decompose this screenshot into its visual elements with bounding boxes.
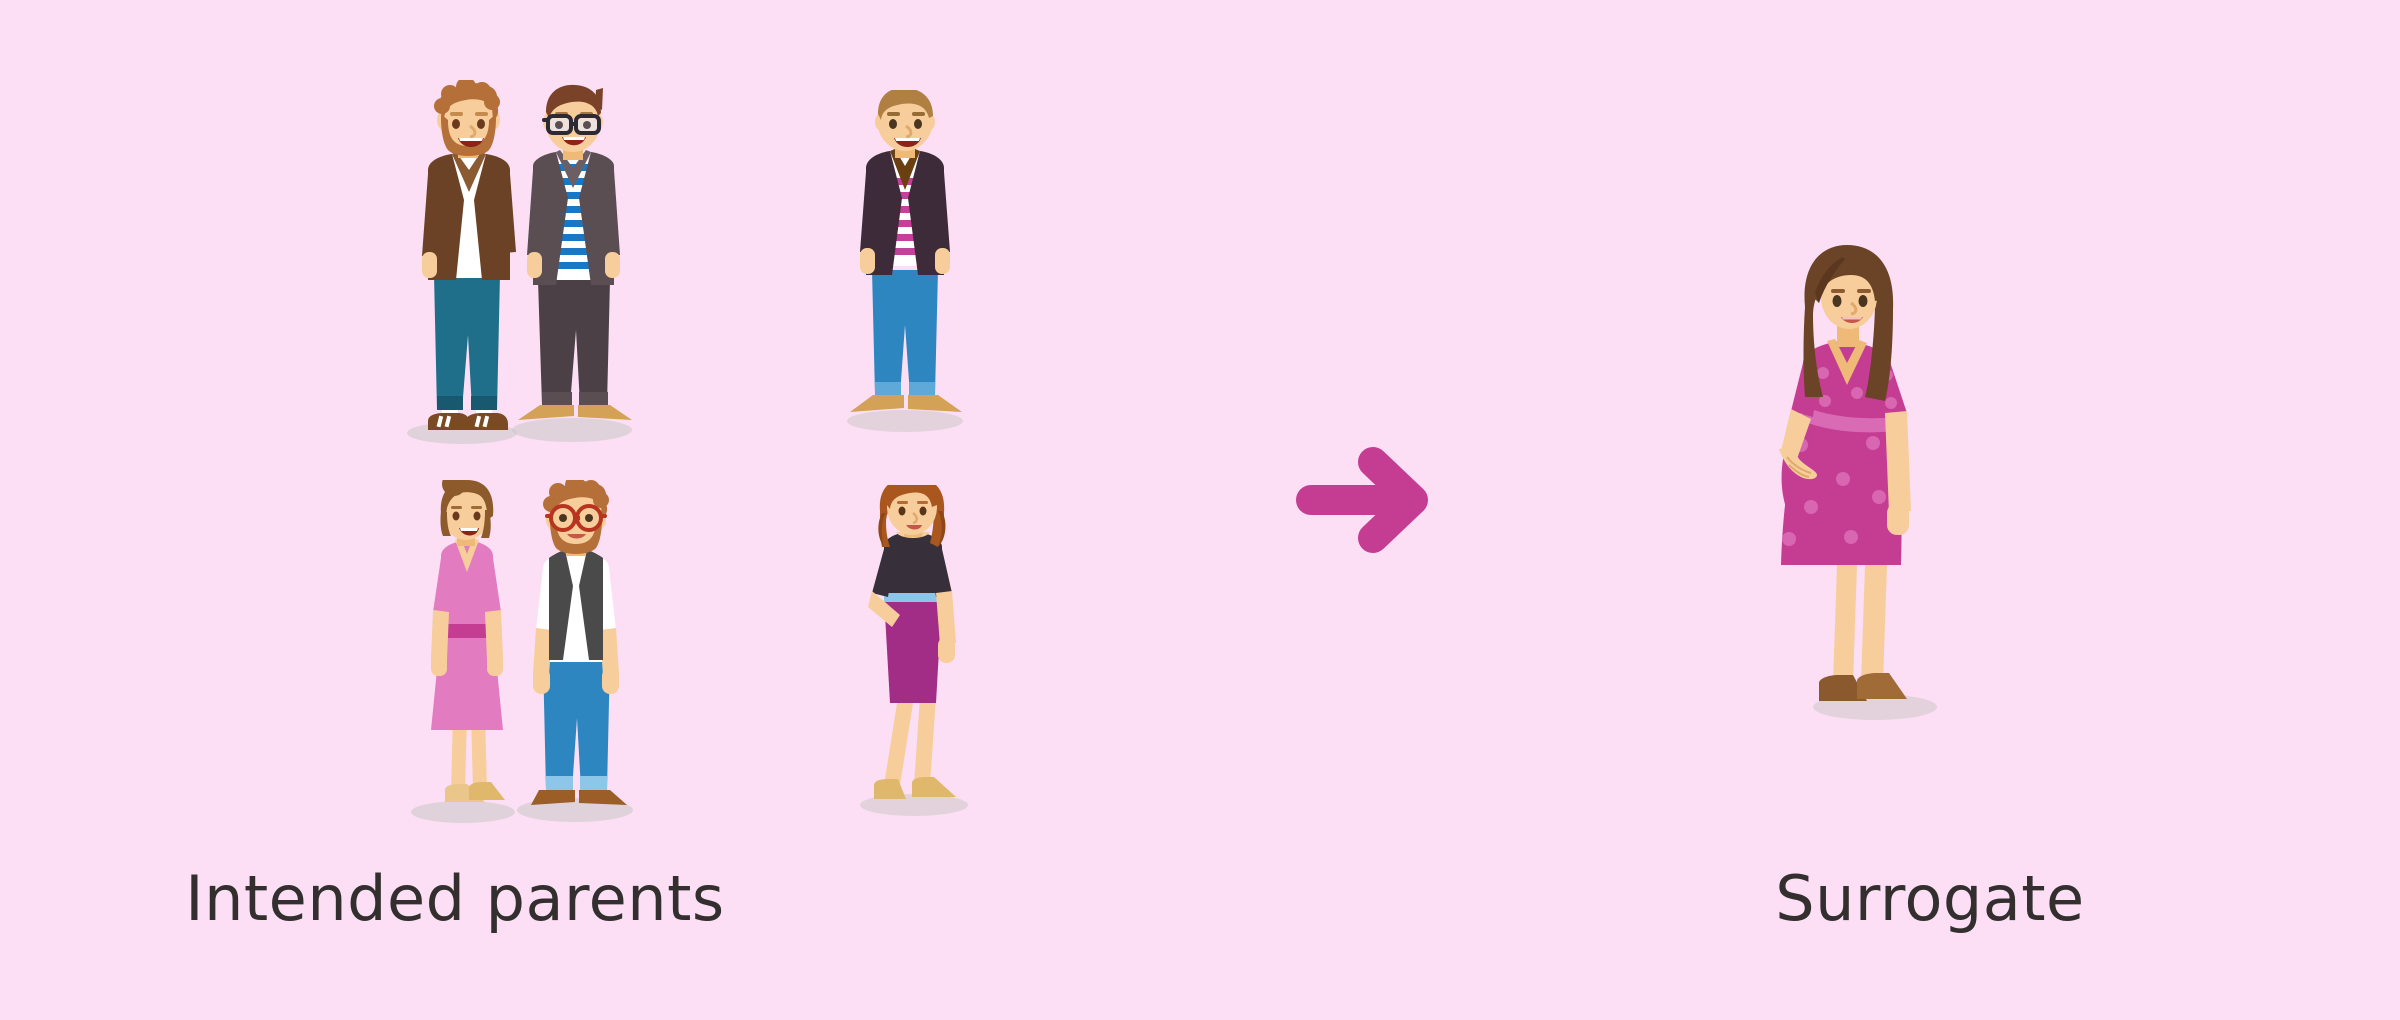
couple-hetero-illustration	[405, 480, 670, 830]
eye	[1859, 295, 1868, 307]
teeth	[459, 138, 483, 141]
illustration-canvas: Intended parents Surrogate	[0, 0, 2400, 1020]
jeans-cuff	[437, 396, 463, 410]
figure-surrogate	[1775, 245, 1985, 735]
shoe	[908, 395, 962, 412]
person-bearded-man	[422, 80, 516, 430]
eyebrow	[475, 112, 488, 116]
eye	[899, 507, 906, 516]
jeans-cuff	[580, 776, 607, 790]
person-woman-pink-dress	[431, 480, 505, 802]
eyebrow	[451, 506, 462, 509]
figure-couple-woman-and-man	[405, 480, 670, 830]
leg	[884, 697, 914, 785]
leg	[914, 697, 936, 785]
eye	[477, 119, 485, 129]
eye	[453, 512, 460, 521]
couple-two-men-illustration	[400, 80, 660, 450]
ground-shadow	[411, 801, 515, 823]
shoe	[578, 405, 632, 420]
eyebrow	[1857, 289, 1871, 293]
person-man-with-glasses	[518, 85, 632, 420]
eyebrow	[917, 501, 928, 504]
surrogate-illustration	[1775, 245, 1985, 735]
hand	[422, 252, 437, 278]
jeans-cuff	[546, 776, 573, 790]
jeans-cuff	[875, 382, 901, 395]
eyebrow	[471, 506, 482, 509]
hand	[938, 637, 955, 663]
hand	[1887, 503, 1909, 535]
right-arrow-icon	[1295, 440, 1445, 560]
jeans	[872, 270, 938, 395]
eye	[1833, 295, 1842, 307]
hand	[602, 668, 619, 694]
shoe	[850, 395, 904, 412]
eye	[474, 512, 481, 521]
arm	[1885, 411, 1911, 513]
label-intended-parents: Intended parents	[0, 862, 910, 935]
hair-curl	[434, 98, 450, 114]
hand	[605, 252, 620, 278]
heel-shoe	[874, 779, 906, 799]
shoe	[579, 790, 627, 805]
figure-couple-two-men	[400, 80, 660, 450]
ground-shadow	[512, 418, 632, 442]
leg	[1861, 565, 1887, 683]
flat-shoe	[469, 782, 505, 800]
hand	[935, 248, 950, 274]
figure-single-man	[820, 90, 990, 435]
teeth	[460, 528, 478, 531]
single-man-illustration	[820, 90, 990, 435]
eye	[914, 119, 922, 129]
jeans-cuff	[471, 396, 497, 410]
hand	[431, 652, 447, 676]
figure-single-woman	[838, 485, 998, 825]
eye	[889, 119, 897, 129]
single-woman-illustration	[838, 485, 998, 825]
trouser-cuff	[542, 392, 572, 405]
person-bearded-man-red-glasses	[531, 480, 627, 805]
trousers	[538, 280, 610, 405]
eyebrow	[1831, 289, 1845, 293]
eyebrow	[450, 112, 463, 116]
eyebrow	[912, 112, 925, 116]
eye	[559, 514, 567, 522]
jeans	[434, 275, 500, 410]
eye	[920, 507, 927, 516]
heel-shoe	[912, 777, 956, 797]
eye	[585, 514, 593, 522]
hand	[487, 652, 503, 676]
jeans	[543, 658, 610, 790]
label-surrogate: Surrogate	[1560, 862, 2300, 935]
eye	[555, 121, 563, 129]
leg	[1833, 565, 1857, 683]
flat-shoe	[1857, 673, 1907, 699]
ground-shadow	[847, 410, 963, 432]
jeans-cuff	[909, 382, 935, 395]
eyebrow	[897, 501, 908, 504]
eyebrow	[887, 112, 900, 116]
eye	[452, 119, 460, 129]
shoe	[518, 405, 574, 420]
hand	[533, 668, 550, 694]
arrow-svg	[1295, 440, 1445, 560]
teeth	[895, 138, 920, 141]
hand	[860, 248, 875, 274]
teeth	[563, 137, 585, 140]
trouser-cuff	[579, 392, 608, 405]
hand	[527, 252, 542, 278]
teeth	[1842, 317, 1862, 320]
eye	[583, 121, 591, 129]
hair-curl	[484, 94, 500, 110]
